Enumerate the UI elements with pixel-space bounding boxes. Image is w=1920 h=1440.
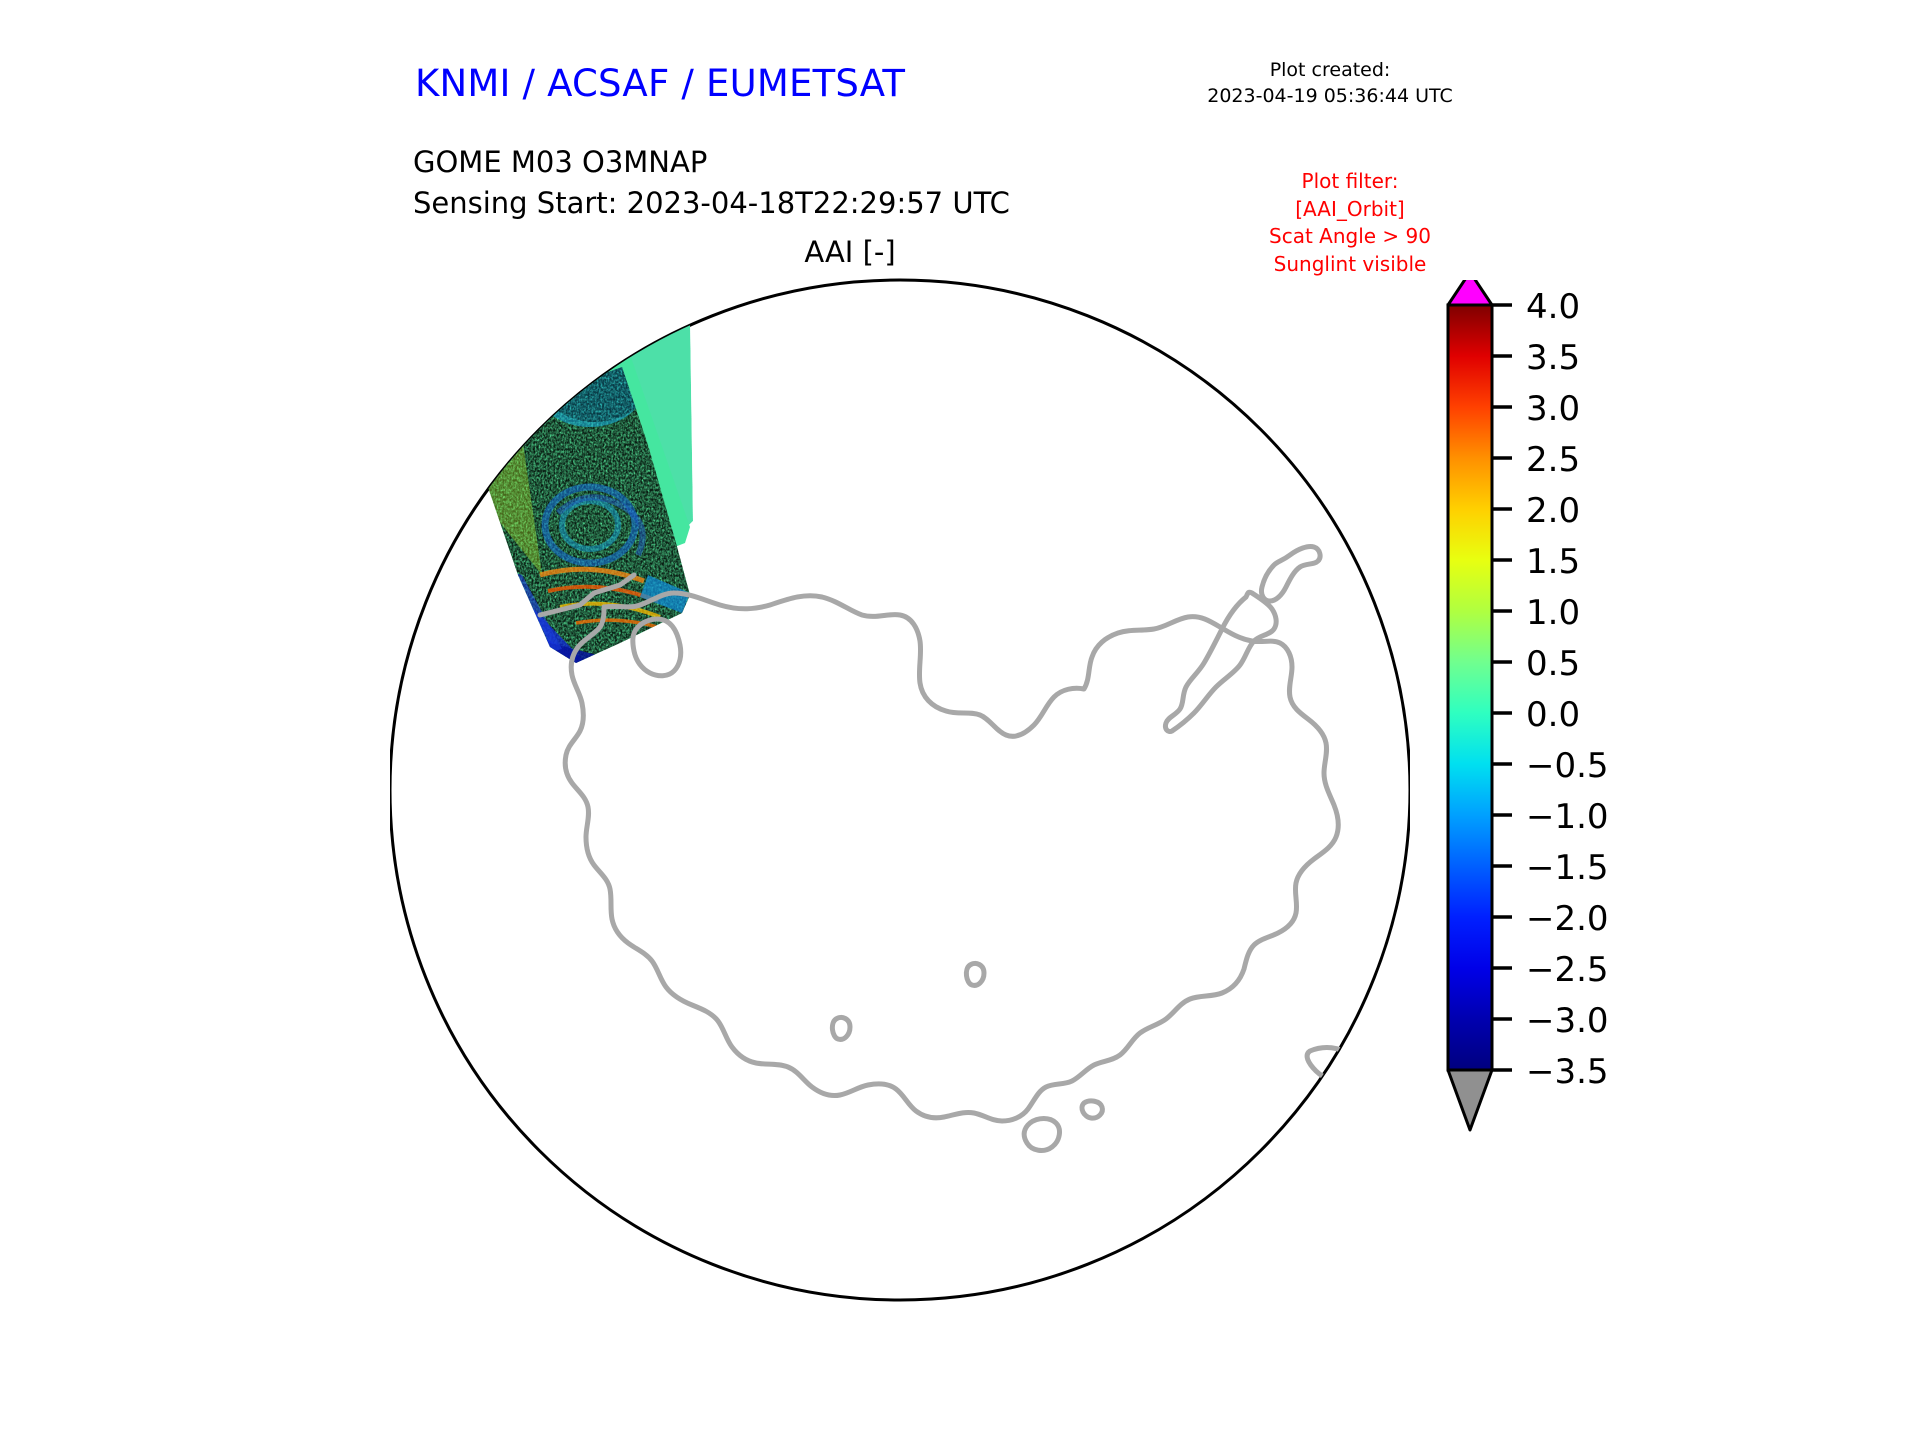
quantity-title: AAI [-] — [640, 235, 1060, 269]
colorbar: 4.0 3.5 3.0 2.5 2.0 — [1430, 280, 1850, 1350]
colorbar-tick: −3.5 — [1492, 1052, 1609, 1092]
plot-filter-line-0: Plot filter: — [1140, 168, 1560, 196]
colorbar-svg: 4.0 3.5 3.0 2.5 2.0 — [1430, 280, 1850, 1350]
colorbar-tick-label: 1.0 — [1526, 593, 1580, 633]
organisation-title: KNMI / ACSAF / EUMETSAT — [415, 62, 905, 105]
plot-filter-line-1: [AAI_Orbit] — [1140, 196, 1560, 224]
colorbar-tick: 0.0 — [1492, 695, 1580, 735]
colorbar-tick-label: 3.5 — [1526, 338, 1580, 378]
colorbar-tick-label: −2.0 — [1526, 899, 1609, 939]
colorbar-tick: 3.5 — [1492, 338, 1580, 378]
colorbar-tick: 1.5 — [1492, 542, 1580, 582]
colorbar-tick: 0.5 — [1492, 644, 1580, 684]
plot-filter-block: Plot filter: [AAI_Orbit] Scat Angle > 90… — [1140, 168, 1560, 278]
colorbar-tick: 1.0 — [1492, 593, 1580, 633]
sensing-start-line: Sensing Start: 2023-04-18T22:29:57 UTC — [413, 183, 1010, 224]
plot-created-value: 2023-04-19 05:36:44 UTC — [1120, 84, 1540, 110]
colorbar-tick-label: −1.5 — [1526, 848, 1609, 888]
page-title: GOME M03 O3MNAP Sensing Start: 2023-04-1… — [413, 142, 1010, 224]
instrument-line: GOME M03 O3MNAP — [413, 142, 1010, 183]
plot-canvas: KNMI / ACSAF / EUMETSAT Plot created: 20… — [0, 0, 1920, 1440]
south-america-coast — [1268, 1153, 1410, 1305]
colorbar-tick: −0.5 — [1492, 746, 1609, 786]
plot-created-block: Plot created: 2023-04-19 05:36:44 UTC — [1120, 58, 1540, 109]
plot-created-label: Plot created: — [1120, 58, 1540, 84]
plot-filter-line-2: Scat Angle > 90 — [1140, 223, 1560, 251]
colorbar-tick: 3.0 — [1492, 389, 1580, 429]
colorbar-tick: −3.0 — [1492, 1001, 1609, 1041]
colorbar-tick-label: 2.0 — [1526, 491, 1580, 531]
colorbar-tick-label: 0.5 — [1526, 644, 1580, 684]
colorbar-tick-label: 3.0 — [1526, 389, 1580, 429]
colorbar-tick-label: −2.5 — [1526, 950, 1609, 990]
colorbar-tick: −2.0 — [1492, 899, 1609, 939]
colorbar-tick: 4.0 — [1492, 287, 1580, 327]
colorbar-under-arrow — [1448, 1070, 1492, 1130]
colorbar-gradient — [1448, 305, 1492, 1070]
south-america-inner-coast — [1367, 1103, 1404, 1138]
colorbar-tick: −1.5 — [1492, 848, 1609, 888]
colorbar-tick-label: −0.5 — [1526, 746, 1609, 786]
map-svg — [390, 275, 1410, 1305]
colorbar-tick-label: −3.5 — [1526, 1052, 1609, 1092]
colorbar-tick-label: −1.0 — [1526, 797, 1609, 837]
colorbar-tick-label: 0.0 — [1526, 695, 1580, 735]
antarctic-peninsula-tip — [1326, 1193, 1349, 1219]
colorbar-tick: 2.0 — [1492, 491, 1580, 531]
colorbar-tick-label: 4.0 — [1526, 287, 1580, 327]
colorbar-tick: −1.0 — [1492, 797, 1609, 837]
colorbar-tick-label: −3.0 — [1526, 1001, 1609, 1041]
colorbar-tick: 2.5 — [1492, 440, 1580, 480]
colorbar-tick-label: 1.5 — [1526, 542, 1580, 582]
colorbar-over-arrow — [1448, 280, 1492, 305]
colorbar-tick: −2.5 — [1492, 950, 1609, 990]
colorbar-tick-label: 2.5 — [1526, 440, 1580, 480]
south-america-west-coast — [1379, 1104, 1410, 1193]
map-area — [390, 275, 1410, 1305]
colorbar-ticks: 4.0 3.5 3.0 2.5 2.0 — [1492, 287, 1609, 1092]
